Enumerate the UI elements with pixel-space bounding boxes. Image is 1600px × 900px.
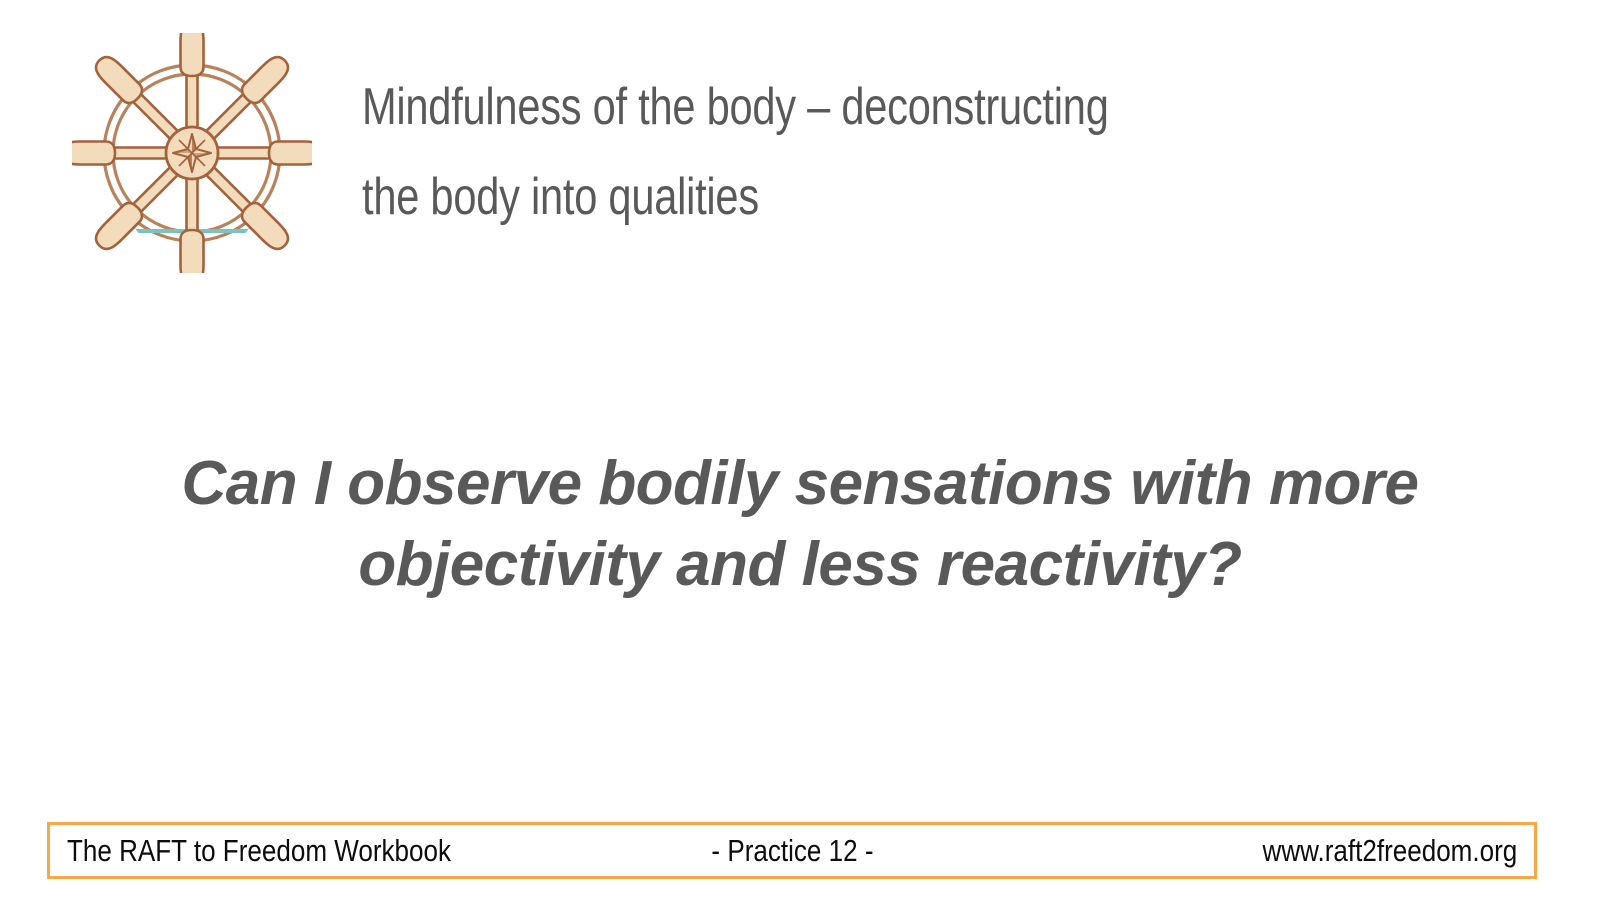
ship-wheel-icon: [72, 33, 312, 273]
raft-ship-wheel-logo: [72, 33, 312, 273]
footer-practice-label-text: - Practice 12 -: [711, 833, 873, 869]
reflection-question: Can I observe bodily sensations with mor…: [80, 443, 1520, 605]
page-title-line-1: Mindfulness of the body – deconstructing: [362, 62, 1258, 152]
reflection-question-line-2: objectivity and less reactivity?: [80, 524, 1520, 605]
page-title-line-2: the body into qualities: [362, 152, 1258, 242]
footer-website-url[interactable]: www.raft2freedom.org: [1262, 833, 1517, 869]
page-title: Mindfulness of the body – deconstructing…: [362, 62, 1258, 242]
compass-rose-hub: [166, 127, 218, 179]
slide-footer: The RAFT to Freedom Workbook - Practice …: [47, 822, 1537, 879]
slide-header: Mindfulness of the body – deconstructing…: [0, 0, 1600, 290]
reflection-question-line-1: Can I observe bodily sensations with mor…: [80, 443, 1520, 524]
